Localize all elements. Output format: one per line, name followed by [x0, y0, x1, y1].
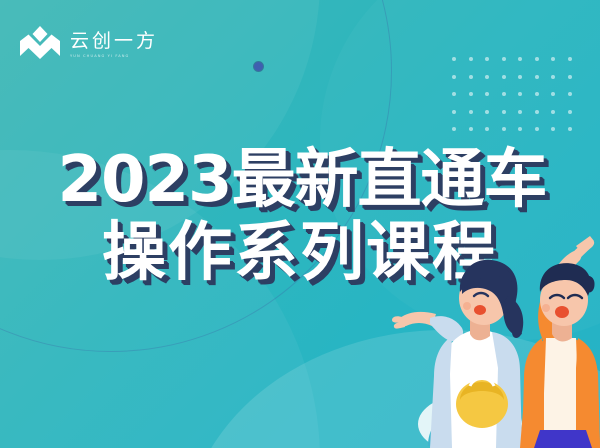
grid-dot [502, 110, 506, 114]
grid-dot [452, 57, 456, 61]
dot-grid-pattern [452, 57, 584, 145]
grid-dot [535, 75, 539, 79]
grid-dot [502, 92, 506, 96]
grid-dot [469, 75, 473, 79]
grid-dot [535, 57, 539, 61]
grid-dot [535, 110, 539, 114]
grid-dot [568, 127, 572, 131]
grid-dot [469, 92, 473, 96]
promo-poster: 云创一方 YUN CHUANG YI FANG 2023最新直通车 操作系列课程 [0, 0, 600, 448]
grid-dot [502, 75, 506, 79]
grid-dot [452, 75, 456, 79]
grid-dot [568, 92, 572, 96]
grid-dot [469, 127, 473, 131]
grid-dot [551, 110, 555, 114]
grid-dot [452, 110, 456, 114]
grid-dot [469, 57, 473, 61]
grid-dot [485, 57, 489, 61]
grid-dot [568, 75, 572, 79]
brand-name: 云创一方 [70, 32, 158, 52]
grid-dot [452, 127, 456, 131]
grid-dot [452, 92, 456, 96]
grid-dot [518, 110, 522, 114]
grid-dot [485, 110, 489, 114]
grid-dot [551, 57, 555, 61]
arc-node-dot-icon [254, 62, 263, 71]
grid-dot [535, 92, 539, 96]
grid-dot [551, 127, 555, 131]
grid-dot [568, 110, 572, 114]
grid-dot [518, 92, 522, 96]
grid-dot [551, 92, 555, 96]
grid-dot [485, 92, 489, 96]
brand-logo: 云创一方 YUN CHUANG YI FANG [18, 24, 158, 64]
celebrating-people-illustration [370, 218, 600, 448]
grid-dot [518, 75, 522, 79]
grid-dot [518, 57, 522, 61]
grid-dot [535, 127, 539, 131]
grid-dot [469, 110, 473, 114]
grid-dot [485, 75, 489, 79]
grid-dot [551, 75, 555, 79]
yunchuang-mountain-mark-icon [18, 24, 62, 64]
grid-dot [518, 127, 522, 131]
grid-dot [568, 57, 572, 61]
brand-tagline: YUN CHUANG YI FANG [70, 55, 158, 59]
grid-dot [485, 127, 489, 131]
grid-dot [502, 127, 506, 131]
grid-dot [502, 57, 506, 61]
brand-logo-text: 云创一方 YUN CHUANG YI FANG [70, 30, 158, 59]
